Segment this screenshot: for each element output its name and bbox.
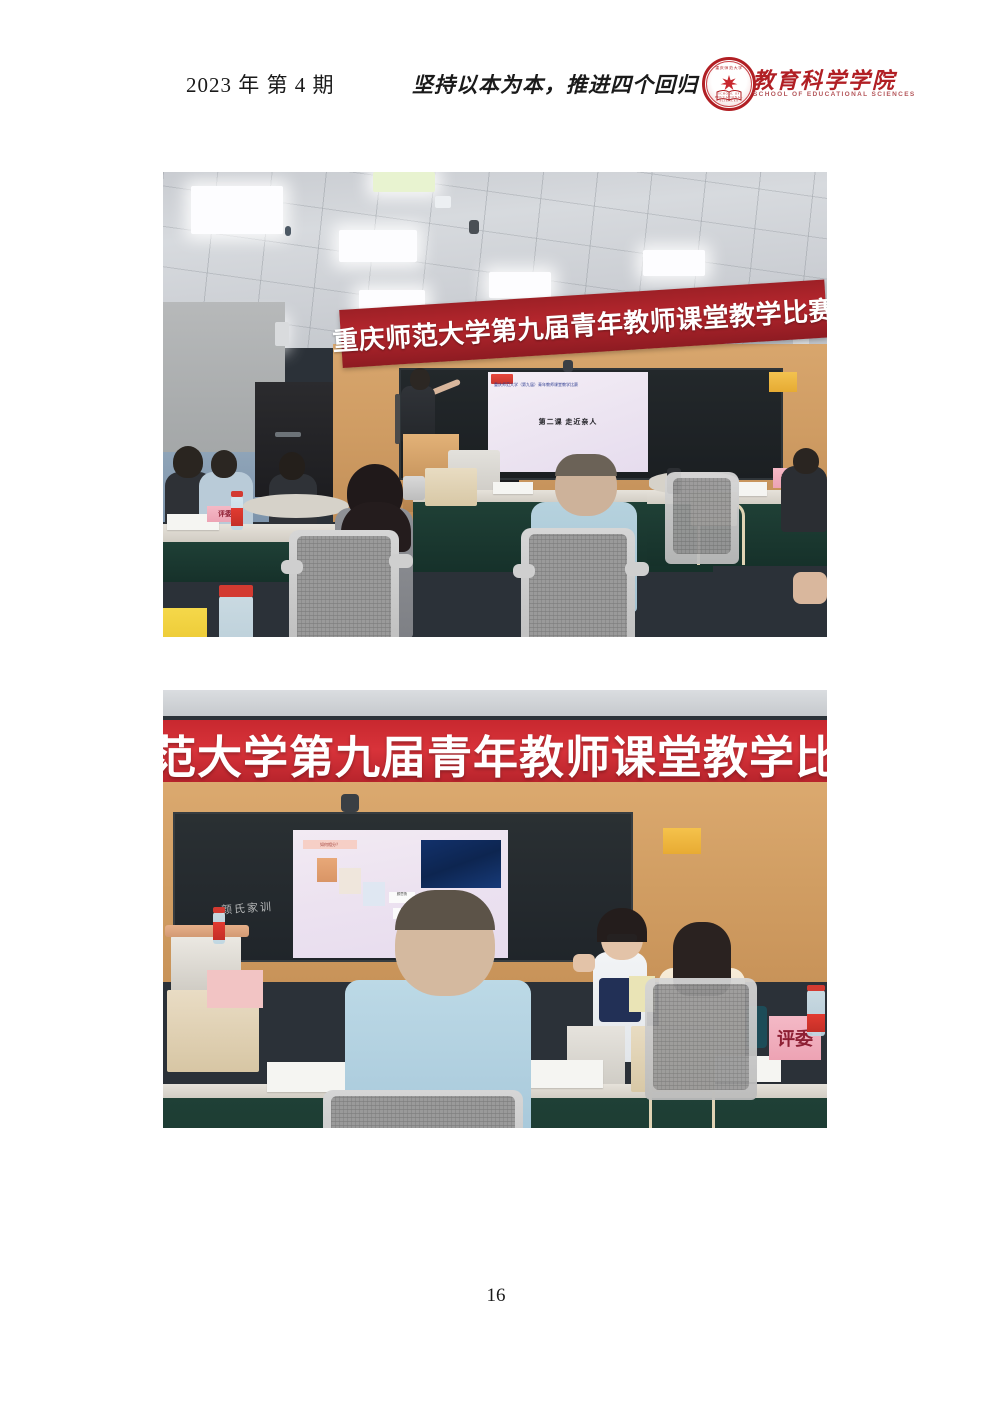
photo-classroom-closeup: 范大学第九届青年教师课堂教学比赛 颜氏家训 如何相分？ 颜思鲁 颜师古 [163, 690, 827, 1128]
office-chair [665, 472, 739, 564]
ceiling-light [191, 186, 283, 234]
slide-video-thumbnail [421, 840, 501, 888]
chair-mesh [297, 536, 391, 637]
door-handle-icon [275, 432, 301, 437]
event-banner-text: 范大学第九届青年教师课堂教学比赛 [163, 721, 827, 786]
judge-placard-text: 评委 [218, 509, 232, 519]
institution-logo: 重庆师范大学 SCHOOL OF EDUCATIONAL SCIENCES 教育… [700, 55, 890, 115]
chair-armrest [513, 564, 535, 578]
bottle-cap [213, 907, 225, 913]
slide-heading: 第二课 走近亲人 [539, 417, 598, 427]
bottle-cap [807, 985, 825, 991]
seal-arc-bottom-text: SCHOOL OF EDUCATIONAL SCIENCES [707, 92, 751, 103]
water-bottle [807, 990, 825, 1036]
ceiling-vent [435, 196, 451, 208]
bottle-cap [231, 491, 243, 497]
ceiling-light [489, 272, 551, 298]
teacher-head [410, 368, 430, 390]
office-chair [323, 1090, 523, 1128]
audience-person [781, 466, 827, 532]
logo-name-en: SCHOOL OF EDUCATIONAL SCIENCES [753, 91, 916, 98]
audience-head [793, 448, 819, 474]
bottle-cap [219, 585, 253, 597]
slide-question: 如何相分？ [303, 840, 357, 849]
document-page: 2023 年 第 4 期 坚持以本为本，推进四个回归 重庆师范大学 SCHOOL… [0, 0, 992, 1403]
wall-speaker-icon [275, 322, 289, 346]
chair-mesh [529, 534, 627, 637]
water-bottle [231, 496, 243, 530]
wall-poster [769, 372, 797, 392]
slide-subtitle: 重庆师范大学（第九届）青年教师课堂教学比赛 [494, 382, 578, 388]
office-chair [521, 528, 635, 637]
microphone-stand-icon [395, 394, 400, 444]
ceiling-light [339, 230, 417, 262]
page-number: 16 [0, 1285, 992, 1307]
slide-portrait-two [339, 868, 361, 894]
pink-folder [207, 970, 263, 1008]
ceiling-light [373, 172, 435, 192]
ceiling [163, 690, 827, 716]
chair-armrest [389, 554, 413, 568]
chair-armrest [281, 560, 303, 574]
flame-icon [720, 75, 738, 91]
cup [403, 476, 425, 500]
bottle-label [807, 1014, 825, 1032]
water-bottle [213, 912, 225, 944]
office-chair [289, 530, 399, 637]
chair-mesh [331, 1096, 515, 1128]
header-issue-label: 2023 年 第 4 期 [186, 69, 335, 99]
glasses-icon [607, 934, 637, 942]
chair-mesh [673, 478, 731, 554]
chair-mesh [653, 984, 749, 1090]
ceiling-camera-icon [469, 220, 479, 234]
office-chair [645, 978, 757, 1100]
chalkboard-writing: 颜氏家训 [221, 898, 274, 918]
ceiling-sensor-icon [285, 226, 291, 236]
wall-poster [663, 828, 701, 854]
ceiling-light [643, 250, 705, 276]
tote-bag [425, 468, 477, 506]
page-header: 2023 年 第 4 期 坚持以本为本，推进四个回归 重庆师范大学 SCHOOL… [0, 55, 992, 117]
chair-armrest [625, 562, 649, 576]
audience-head [173, 446, 203, 478]
yellow-sign [163, 608, 207, 637]
audience-hand [793, 572, 827, 604]
bottle-label [213, 922, 225, 940]
seal-inner-disc: 重庆师范大学 SCHOOL OF EDUCATIONAL SCIENCES [706, 61, 752, 107]
ceiling-camera-icon [563, 360, 573, 372]
slide-portrait-one [317, 858, 337, 882]
teacher-hand [573, 954, 595, 972]
document-paper [493, 482, 533, 494]
seal-arc-top-text: 重庆师范大学 [707, 65, 751, 70]
audience-head [279, 452, 305, 480]
round-table [243, 494, 349, 518]
judge-hair [555, 454, 617, 476]
seal-emblem-icon: 重庆师范大学 SCHOOL OF EDUCATIONAL SCIENCES [702, 57, 756, 111]
photo-classroom-overview: 重庆师范大学第九届青年教师课堂教学比赛 重庆师范大学（第九届）青年教师课堂教学比… [163, 172, 827, 637]
header-slogan: 坚持以本为本，推进四个回归 [412, 69, 698, 99]
water-bottle [219, 596, 253, 637]
event-banner: 范大学第九届青年教师课堂教学比赛 [163, 720, 827, 786]
slide-portrait-three [363, 882, 385, 906]
audience-head [211, 450, 237, 478]
ceiling-camera-icon [341, 794, 359, 812]
console-top [165, 925, 249, 937]
bottle-label [231, 508, 243, 526]
